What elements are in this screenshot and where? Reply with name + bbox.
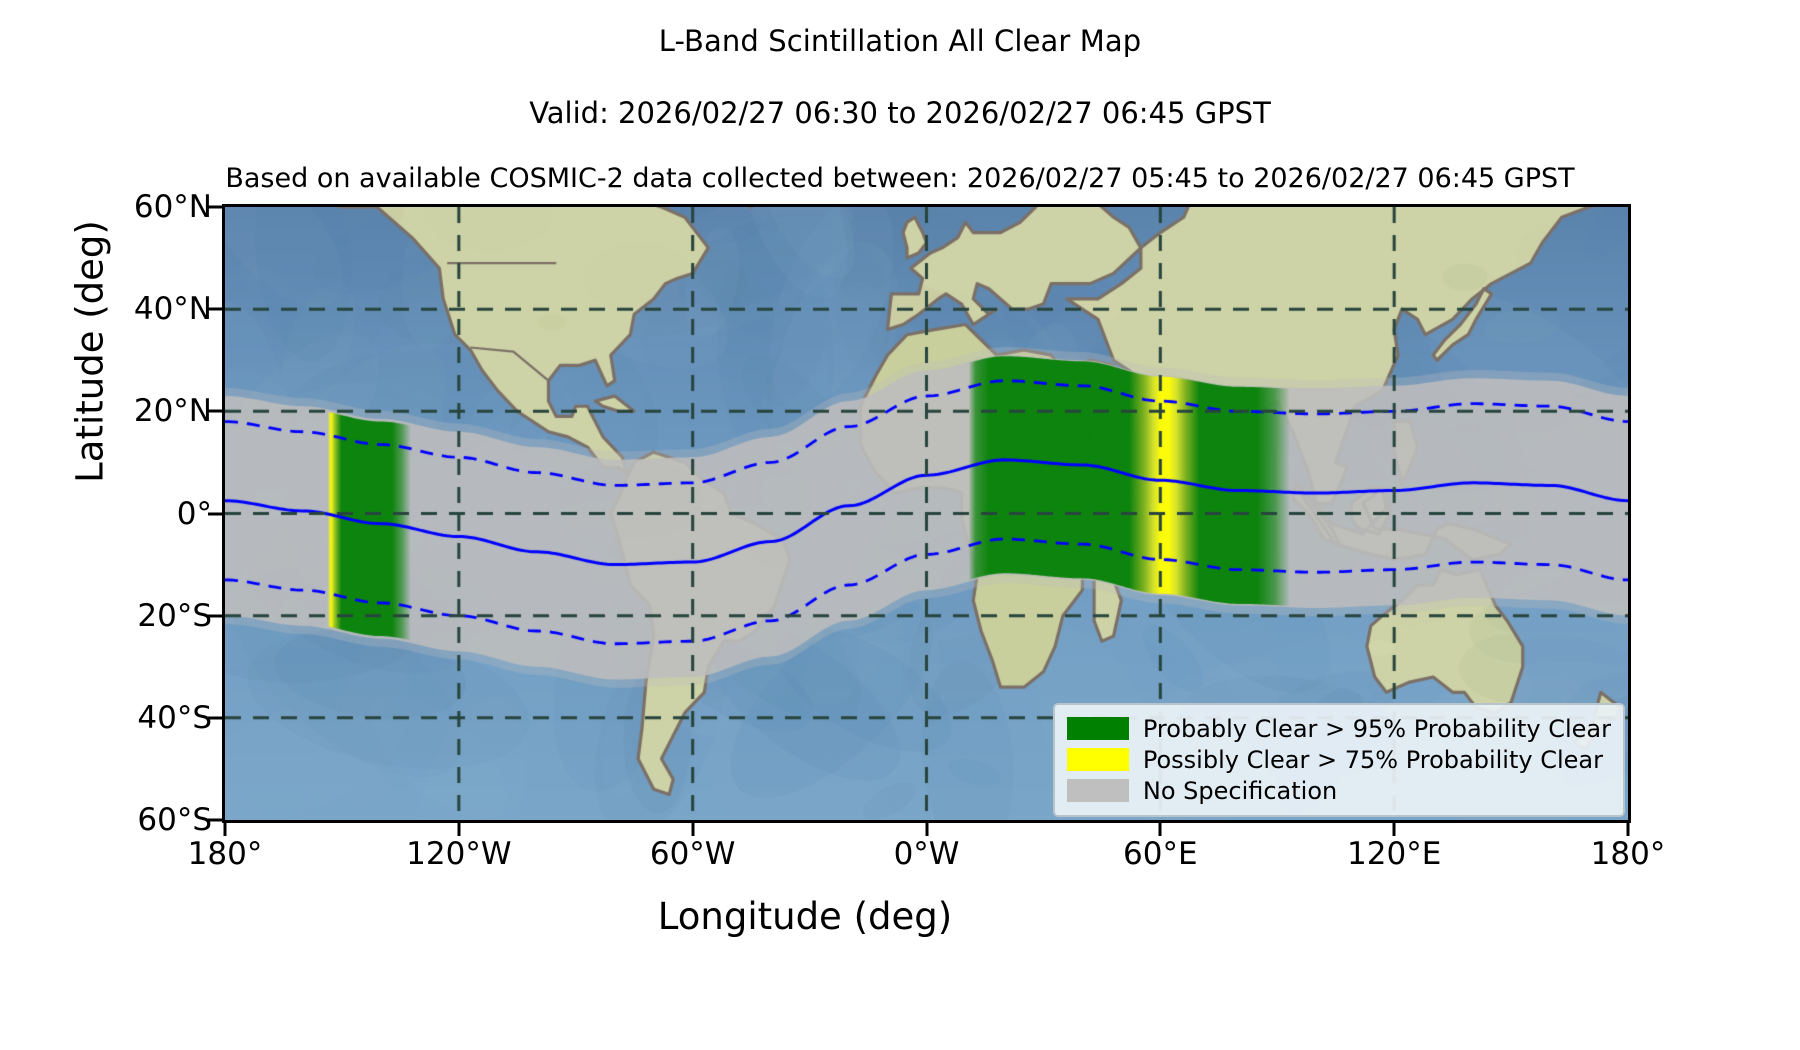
y-axis-label: Latitude (deg) (69, 72, 112, 632)
x-tick-label-6: 180° (1591, 836, 1666, 872)
x-tick-mark-2 (691, 821, 694, 836)
x-tick-label-2: 60°W (650, 836, 736, 872)
y-tick-label-6: 60°S (137, 802, 212, 838)
y-tick-mark-0 (208, 206, 223, 209)
legend-swatch-yellow (1067, 748, 1129, 771)
legend-swatch-gray (1067, 779, 1129, 802)
y-tick-label-2: 20°N (134, 393, 212, 429)
legend-label-no-specification: No Specification (1143, 777, 1337, 805)
map-legend: Probably Clear > 95% Probability Clear P… (1053, 703, 1625, 817)
y-tick-mark-2 (208, 410, 223, 413)
data-source-subtitle: Based on available COSMIC-2 data collect… (0, 163, 1800, 194)
legend-label-probably-clear: Probably Clear > 95% Probability Clear (1143, 715, 1611, 743)
x-tick-mark-6 (1627, 821, 1630, 836)
x-tick-label-3: 0°W (894, 836, 960, 872)
x-tick-mark-1 (457, 821, 460, 836)
y-tick-label-1: 40°N (134, 291, 212, 327)
validity-subtitle: Valid: 2026/02/27 06:30 to 2026/02/27 06… (0, 96, 1800, 130)
map-plot-area[interactable]: Map valid for 1500 MHz Probably Clear > … (222, 204, 1631, 823)
legend-swatch-green (1067, 717, 1129, 740)
y-tick-mark-6 (208, 819, 223, 822)
x-tick-label-4: 60°E (1123, 836, 1198, 872)
y-tick-mark-3 (208, 512, 223, 515)
x-tick-mark-5 (1393, 821, 1396, 836)
y-tick-label-4: 20°S (137, 598, 212, 634)
y-tick-mark-1 (208, 308, 223, 311)
legend-item-probably-clear: Probably Clear > 95% Probability Clear (1067, 713, 1611, 744)
legend-item-no-specification: No Specification (1067, 775, 1611, 806)
y-tick-label-5: 40°S (137, 700, 212, 736)
x-tick-label-5: 120°E (1347, 836, 1441, 872)
y-tick-label-0: 60°N (134, 189, 212, 225)
y-tick-mark-5 (208, 716, 223, 719)
x-tick-mark-4 (1159, 821, 1162, 836)
y-tick-label-3: 0° (177, 496, 212, 532)
page-title: L-Band Scintillation All Clear Map (0, 24, 1800, 58)
x-tick-label-1: 120°W (406, 836, 511, 872)
legend-item-possibly-clear: Possibly Clear > 75% Probability Clear (1067, 744, 1611, 775)
legend-label-possibly-clear: Possibly Clear > 75% Probability Clear (1143, 746, 1603, 774)
x-axis-label: Longitude (deg) (190, 895, 1420, 938)
x-tick-mark-0 (224, 821, 227, 836)
x-tick-label-0: 180° (188, 836, 263, 872)
y-tick-mark-4 (208, 614, 223, 617)
x-tick-mark-3 (925, 821, 928, 836)
